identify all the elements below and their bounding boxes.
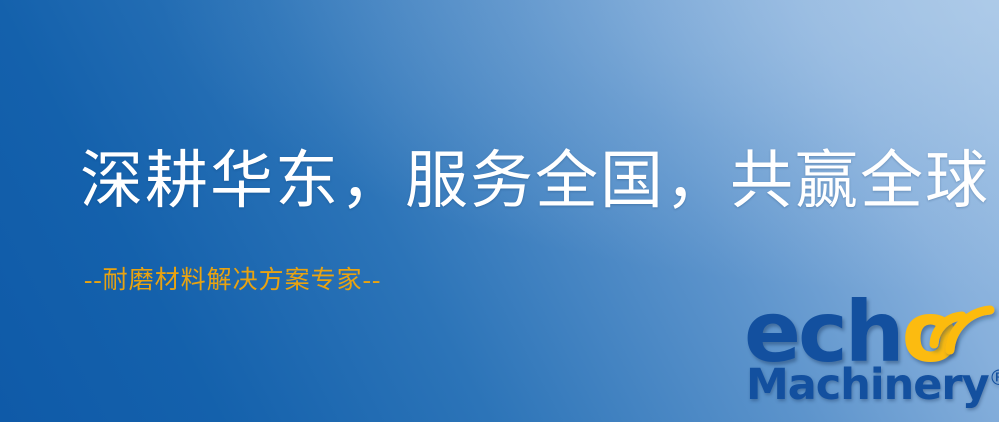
echo-signal-waves-icon xyxy=(928,294,994,356)
banner-subtitle: --耐磨材料解决方案专家-- xyxy=(84,266,381,296)
banner-headline: 深耕华东，服务全国，共赢全球 xyxy=(80,146,950,217)
company-logo[interactable]: echo Machinery® xyxy=(742,296,998,422)
promotional-banner: 深耕华东，服务全国，共赢全球 --耐磨材料解决方案专家-- echo Machi… xyxy=(0,0,999,422)
logo-company-name-text: Machinery xyxy=(746,360,989,410)
registered-trademark-icon: ® xyxy=(989,366,999,390)
logo-company-name: Machinery® xyxy=(746,364,999,407)
